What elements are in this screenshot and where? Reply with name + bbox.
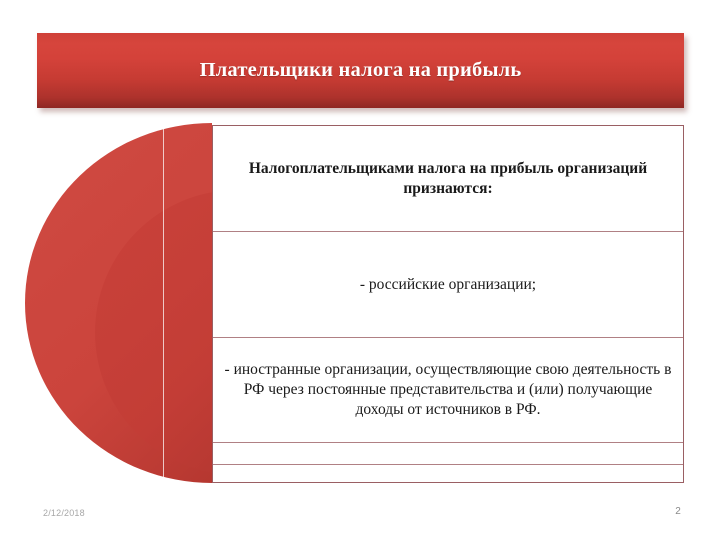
decorative-half-ellipse (25, 123, 212, 483)
table-row: - российские организации; (213, 232, 683, 338)
table-cell-russian-orgs: - российские организации; (360, 275, 536, 295)
table-cell-foreign-orgs: - иностранные организации, осуществляющи… (221, 360, 675, 419)
table-row (213, 465, 683, 482)
content-table: Налогоплательщиками налога на прибыль ор… (212, 125, 684, 483)
table-cell-heading: Налогоплательщиками налога на прибыль ор… (221, 159, 675, 198)
table-row: - иностранные организации, осуществляющи… (213, 338, 683, 443)
decorative-vertical-line (163, 123, 164, 483)
title-banner: Плательщики налога на прибыль (37, 33, 684, 108)
table-row (213, 443, 683, 465)
table-row: Налогоплательщиками налога на прибыль ор… (213, 126, 683, 232)
slide-number: 2 (668, 506, 688, 517)
footer-date: 2/12/2018 (43, 508, 85, 518)
slide: Плательщики налога на прибыль Налогоплат… (0, 0, 720, 540)
page-title: Плательщики налога на прибыль (200, 59, 522, 82)
